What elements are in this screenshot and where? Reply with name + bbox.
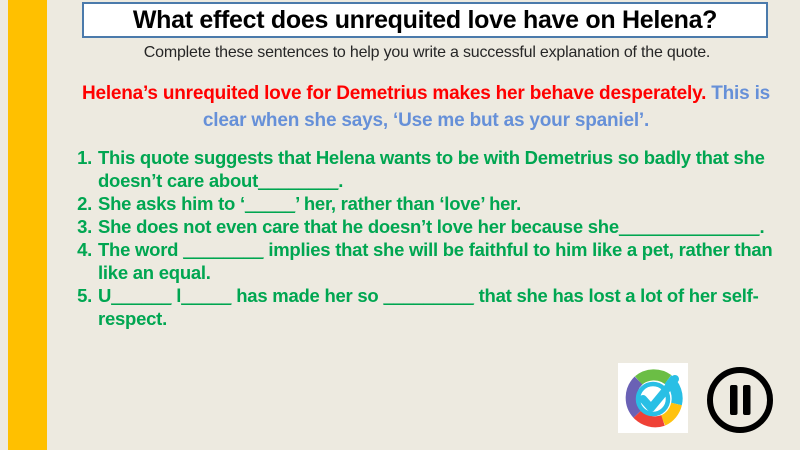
page-title: What effect does unrequited love have on… [133,8,717,33]
check-circle-logo-icon [618,363,688,433]
question-text: She does not even care that he doesn’t l… [98,216,764,237]
question-text-run: She does not even care that he doesn’t l… [98,216,619,237]
answer-blank[interactable]: ________ [258,170,338,191]
question-text-run: She asks him to ‘ [98,193,245,214]
sentence-starter-period: . [701,83,706,104]
question-text-run: l [171,285,181,306]
question-number: 2. [66,192,92,215]
question-text-run: U [98,285,111,306]
question-text-run: ’ her, rather than ‘love’ her. [295,193,521,214]
answer-blank[interactable]: _____ [181,285,231,306]
question-text-run: This quote suggests that Helena wants to… [98,147,765,191]
question-item: 4.The word ________ implies that she wil… [66,238,790,284]
accent-bar [8,0,47,450]
sentence-starter: Helena’s unrequited love for Demetrius m… [58,80,794,134]
question-text: She asks him to ‘_____’ her, rather than… [98,193,521,214]
question-text-run: has made her so [231,285,383,306]
answer-blank[interactable]: ______ [111,285,171,306]
question-item: 1.This quote suggests that Helena wants … [66,146,790,192]
question-number: 3. [66,215,92,238]
pause-icon[interactable] [704,364,776,436]
answer-blank[interactable]: _____ [245,193,295,214]
question-item: 3.She does not even care that he doesn’t… [66,215,790,238]
question-text-run: The word [98,239,183,260]
sentence-starter-red: Helena’s unrequited love for Demetrius m… [82,83,701,104]
answer-blank[interactable]: _________ [383,285,473,306]
question-text: This quote suggests that Helena wants to… [98,147,765,191]
question-item: 2.She asks him to ‘_____’ her, rather th… [66,192,790,215]
slide-canvas: What effect does unrequited love have on… [0,0,800,450]
question-text: U______ l_____ has made her so _________… [98,285,759,329]
answer-blank[interactable]: ______________ [619,216,760,237]
question-number: 4. [66,238,92,261]
question-item: 5.U______ l_____ has made her so _______… [66,284,790,330]
question-number: 5. [66,284,92,307]
answer-blank[interactable]: ________ [183,239,263,260]
instruction-text: Complete these sentences to help you wri… [82,44,772,62]
question-text-run: . [338,170,343,191]
question-text-run: . [759,216,764,237]
question-number: 1. [66,146,92,169]
question-text: The word ________ implies that she will … [98,239,772,283]
question-list: 1.This quote suggests that Helena wants … [66,146,790,330]
title-box: What effect does unrequited love have on… [82,2,768,38]
